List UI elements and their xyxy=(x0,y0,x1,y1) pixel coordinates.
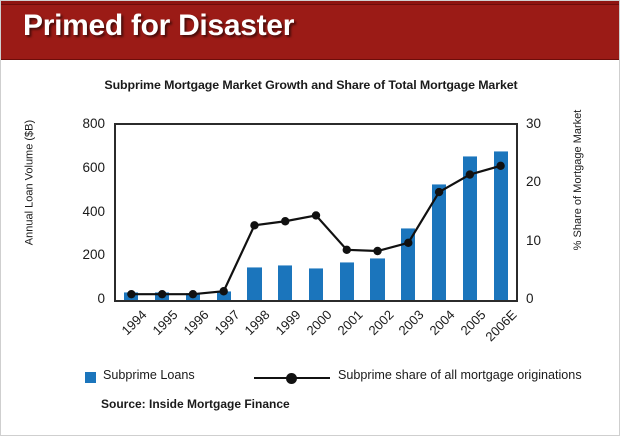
line-marker-1999 xyxy=(281,217,289,225)
line-marker-1997 xyxy=(219,287,227,295)
chart-legend: Subprime Loans Subprime share of all mor… xyxy=(1,368,620,388)
source-note: Source: Inside Mortgage Finance xyxy=(101,397,290,411)
line-marker-1994 xyxy=(127,290,135,298)
chart-figure: Primed for Disaster Subprime Mortgage Ma… xyxy=(0,0,620,436)
line-marker-2004 xyxy=(435,188,443,196)
y-tick-label-left-0: 0 xyxy=(59,291,105,306)
legend-bar-swatch xyxy=(85,372,96,383)
legend-line-dot-icon xyxy=(286,373,297,384)
chart-panel: Subprime Mortgage Market Growth and Shar… xyxy=(1,66,620,436)
chart-title: Subprime Mortgage Market Growth and Shar… xyxy=(1,78,620,92)
line-path xyxy=(131,166,500,294)
line-marker-2002 xyxy=(373,247,381,255)
legend-line-label: Subprime share of all mortgage originati… xyxy=(338,368,582,382)
line-marker-1996 xyxy=(189,290,197,298)
y-tick-label-right-10: 10 xyxy=(526,233,560,248)
line-marker-1998 xyxy=(250,221,258,229)
y-tick-label-right-30: 30 xyxy=(526,116,560,131)
banner-title: Primed for Disaster xyxy=(23,9,294,43)
plot-area xyxy=(114,123,518,302)
y-tick-label-left-400: 400 xyxy=(59,204,105,219)
y-axis-label-left: Annual Loan Volume ($B) xyxy=(24,118,37,248)
y-axis-label-right: % Share of Mortgage Market xyxy=(572,100,584,260)
line-marker-2001 xyxy=(343,246,351,254)
banner: Primed for Disaster xyxy=(1,1,620,63)
y-tick-label-right-0: 0 xyxy=(526,291,560,306)
y-tick-label-left-200: 200 xyxy=(59,247,105,262)
line-marker-2005 xyxy=(466,170,474,178)
line-marker-2006E xyxy=(496,162,504,170)
line-marker-1995 xyxy=(158,290,166,298)
y-tick-label-left-600: 600 xyxy=(59,160,105,175)
line-marker-2003 xyxy=(404,239,412,247)
y-tick-label-left-800: 800 xyxy=(59,116,105,131)
legend-bar-label: Subprime Loans xyxy=(103,368,195,382)
line-series-layer xyxy=(116,125,516,300)
line-marker-2000 xyxy=(312,211,320,219)
y-tick-label-right-20: 20 xyxy=(526,174,560,189)
